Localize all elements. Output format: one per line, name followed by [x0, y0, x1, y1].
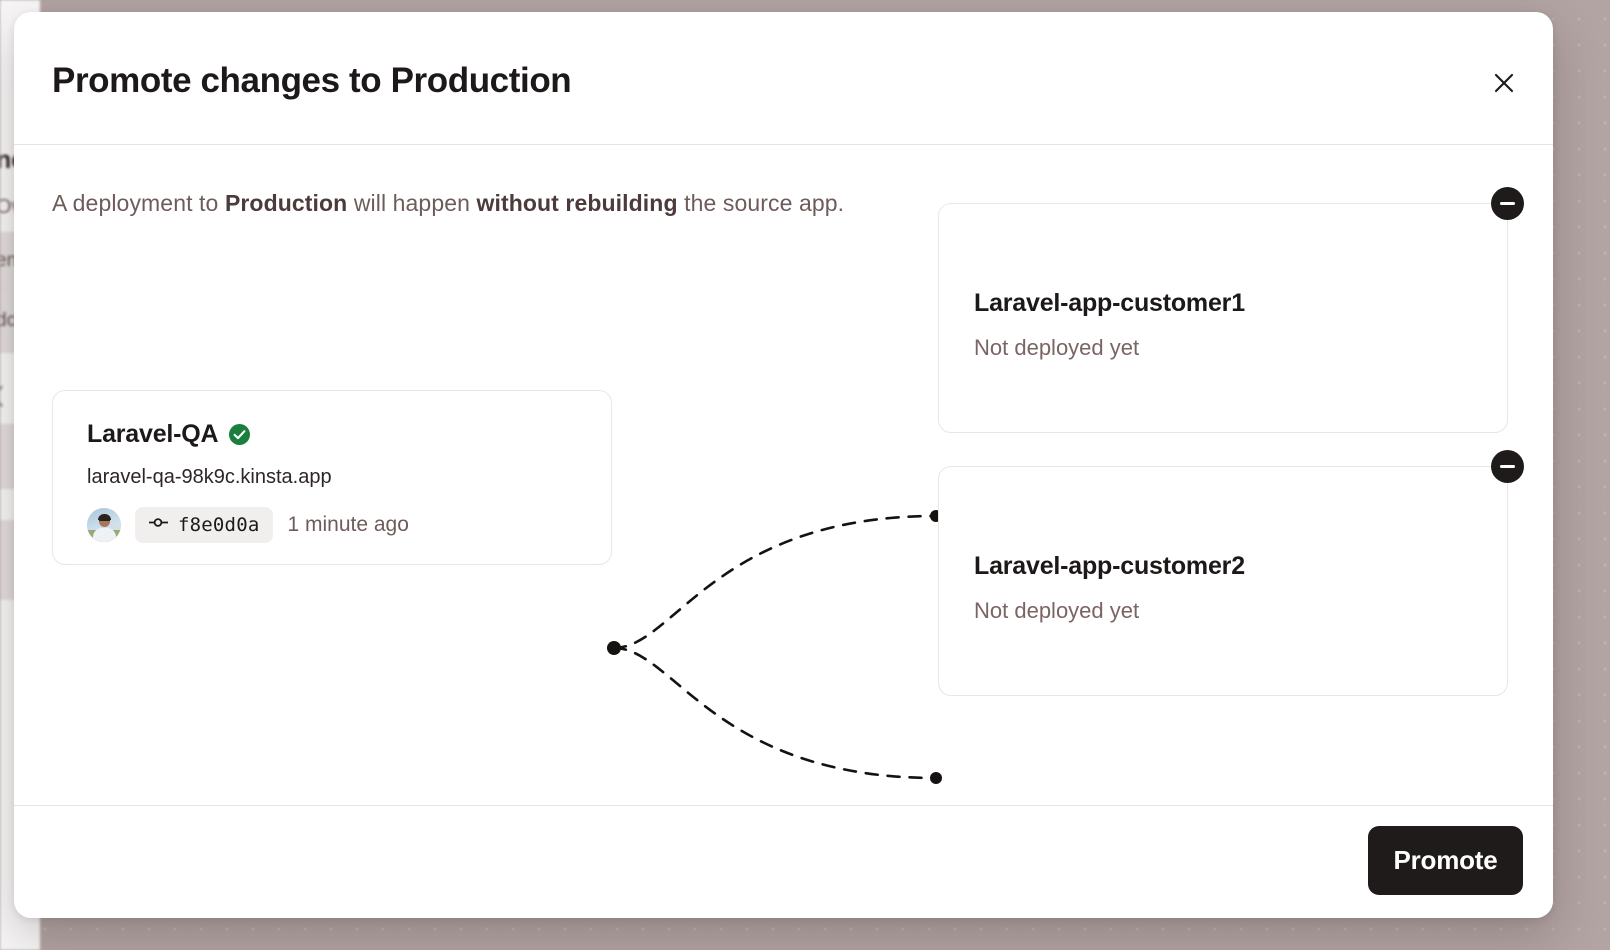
- verified-check-icon: [229, 424, 250, 445]
- source-app-title-row: Laravel-QA: [87, 420, 250, 449]
- avatar: [87, 508, 121, 542]
- target-app-name: Laravel-app-customer1: [974, 289, 1245, 318]
- git-commit-icon: [149, 516, 168, 534]
- target-app-name: Laravel-app-customer2: [974, 552, 1245, 581]
- commit-chip[interactable]: f8e0d0a: [135, 507, 273, 543]
- close-icon[interactable]: [1485, 64, 1523, 102]
- remove-target-icon[interactable]: [1491, 450, 1524, 483]
- promote-button[interactable]: Promote: [1368, 826, 1523, 895]
- commit-timestamp: 1 minute ago: [287, 513, 408, 537]
- page-title: Promote changes to Production: [52, 61, 571, 101]
- target-app-card[interactable]: Laravel-app-customer2 Not deployed yet: [938, 466, 1508, 696]
- deployment-graph: Laravel-QA laravel-qa-98k9c.kinsta.app: [14, 145, 1553, 805]
- commit-hash: f8e0d0a: [178, 514, 259, 536]
- promote-modal: Promote changes to Production A deployme…: [14, 12, 1553, 918]
- source-app-name: Laravel-QA: [87, 420, 218, 449]
- remove-target-icon[interactable]: [1491, 187, 1524, 220]
- source-app-card[interactable]: Laravel-QA laravel-qa-98k9c.kinsta.app: [52, 390, 612, 565]
- modal-body: A deployment to Production will happen w…: [14, 145, 1553, 805]
- background-text-fragment: (: [0, 382, 3, 408]
- source-app-meta: f8e0d0a 1 minute ago: [87, 507, 409, 543]
- target-app-status: Not deployed yet: [974, 598, 1139, 624]
- modal-header: Promote changes to Production: [14, 12, 1553, 145]
- modal-footer: Promote: [14, 805, 1553, 917]
- target-app-card[interactable]: Laravel-app-customer1 Not deployed yet: [938, 203, 1508, 433]
- target-app-status: Not deployed yet: [974, 335, 1139, 361]
- source-app-url: laravel-qa-98k9c.kinsta.app: [87, 466, 332, 489]
